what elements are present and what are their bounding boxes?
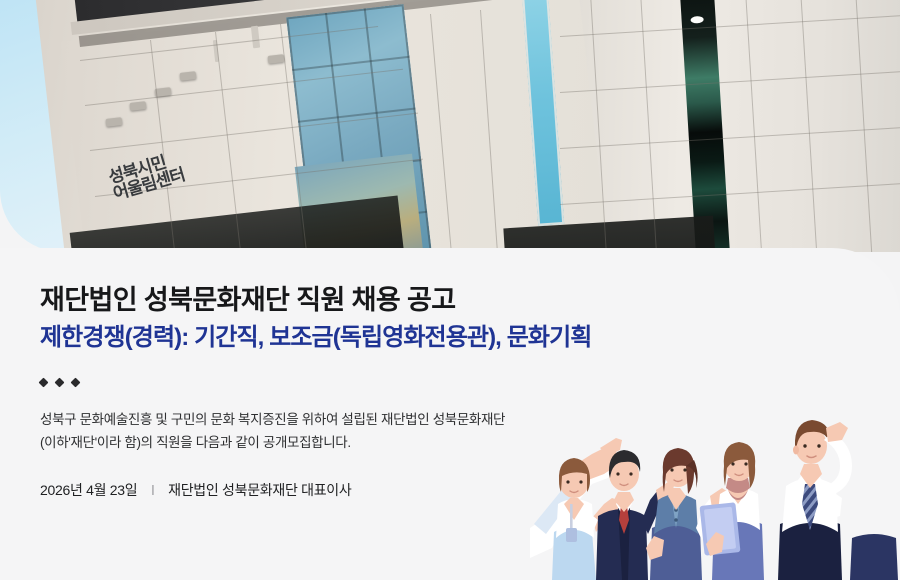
diamond-divider (40, 379, 900, 386)
diamond-icon (55, 377, 65, 387)
announcement-date: 2026년 4월 23일 (40, 480, 137, 500)
figure-partial-right (850, 534, 898, 580)
signature-line: 2026년 4월 23일 l 재단법인 성북문화재단 대표이사 (40, 480, 900, 500)
content-panel: 재단법인 성북문화재단 직원 채용 공고 제한경쟁(경력): 기간직, 보조금(… (0, 248, 900, 580)
diamond-icon (39, 377, 49, 387)
content-inner: 재단법인 성북문화재단 직원 채용 공고 제한경쟁(경력): 기간직, 보조금(… (0, 248, 900, 500)
body-paragraph: 성북구 문화예술진흥 및 구민의 문화 복지증진을 위하여 설립된 재단법인 성… (40, 408, 900, 454)
diamond-icon (71, 377, 81, 387)
building-photo: 성북시민 어울림센터 (0, 0, 900, 252)
page-title: 재단법인 성북문화재단 직원 채용 공고 (40, 284, 900, 316)
body-line-2: (이하'재단'이라 함)의 직원을 다음과 같이 공개모집합니다. (40, 431, 900, 454)
body-line-1: 성북구 문화예술진흥 및 구민의 문화 복지증진을 위하여 설립된 재단법인 성… (40, 408, 900, 431)
signature-separator: l (151, 482, 154, 498)
window-lamp-icon (690, 16, 703, 24)
page-subtitle: 제한경쟁(경력): 기간직, 보조금(독립영화전용관), 문화기획 (40, 323, 900, 352)
recruitment-poster: 성북시민 어울림센터 재단법인 성북문화재단 직원 채용 공고 제한경쟁(경력)… (0, 0, 900, 580)
issuer-name: 재단법인 성북문화재단 대표이사 (168, 480, 351, 500)
